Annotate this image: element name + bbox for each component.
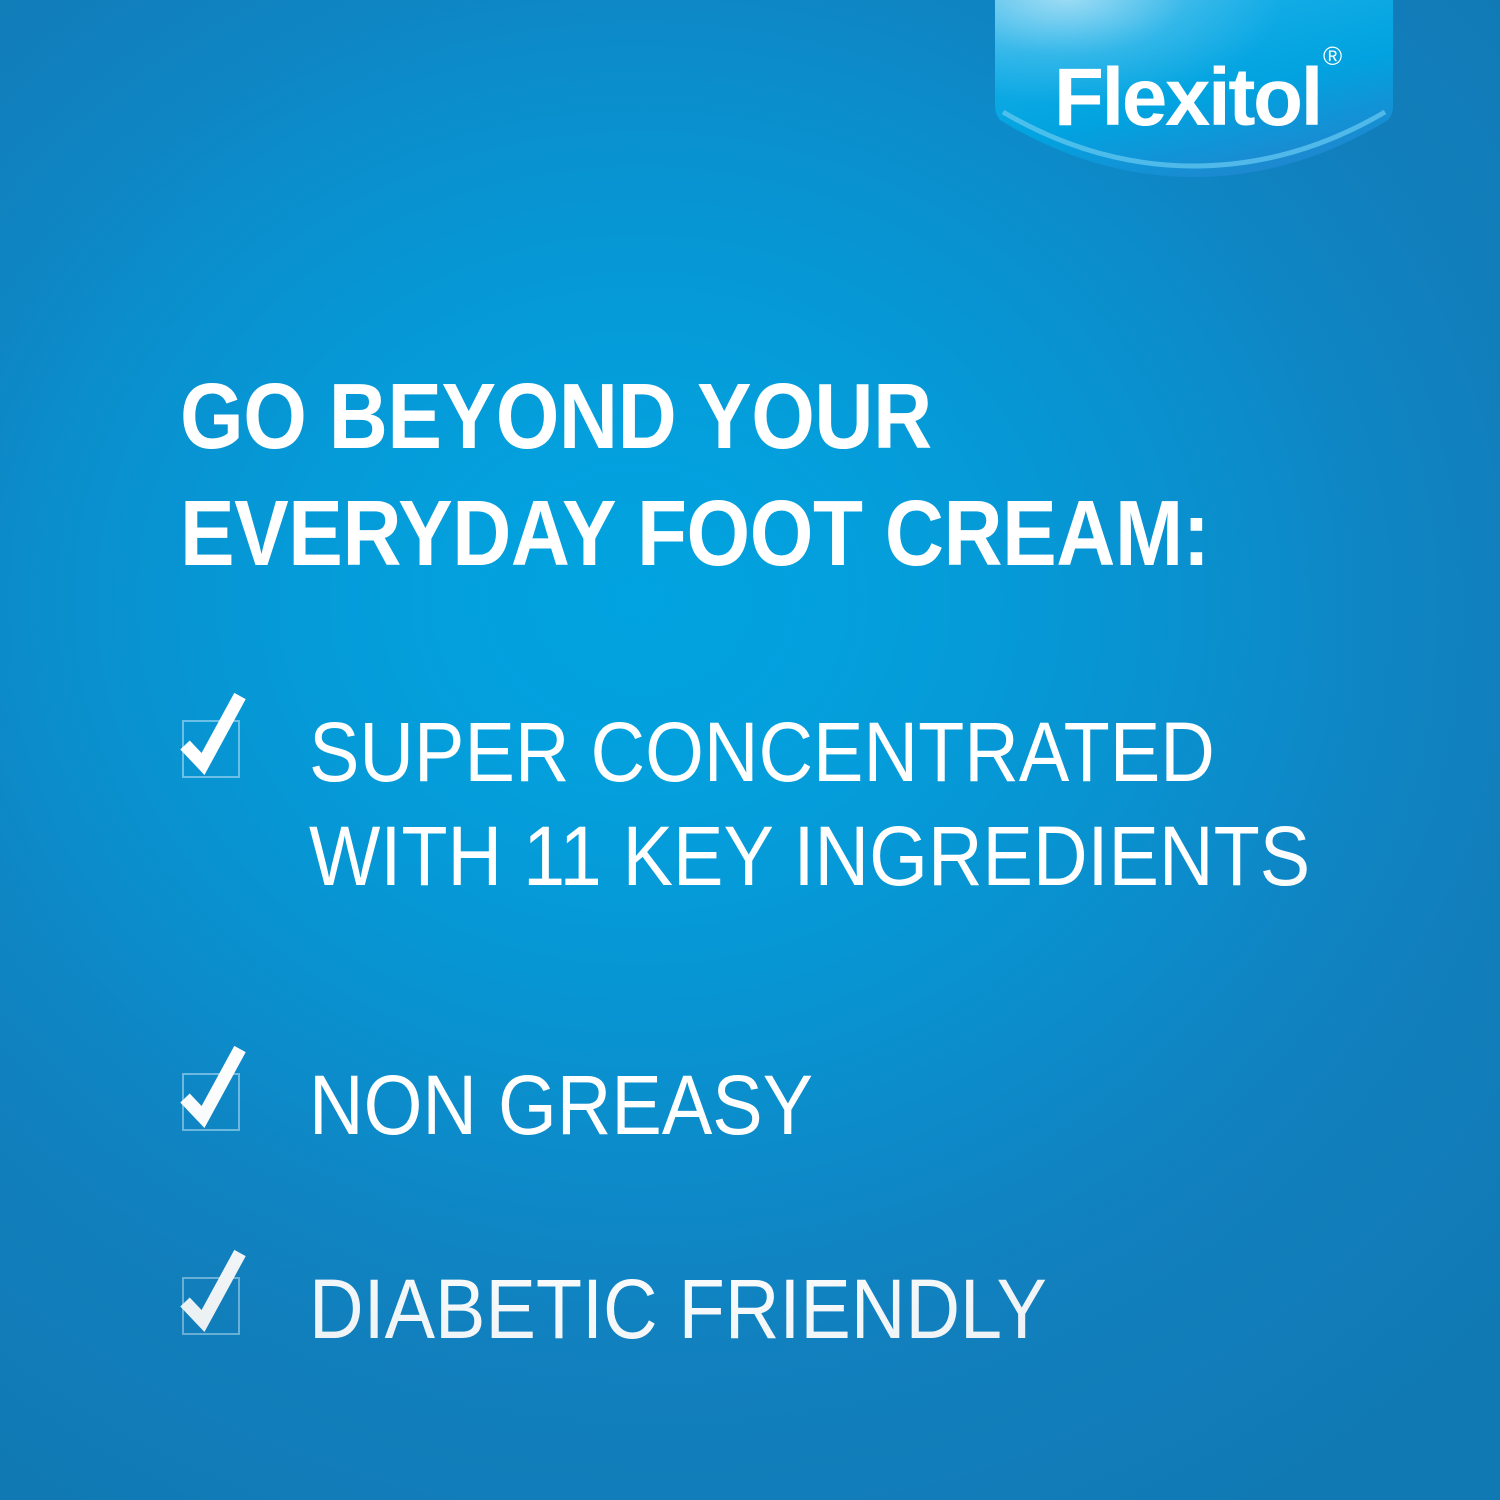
checkbox-checked	[180, 720, 242, 782]
list-item-label: NON GREASY	[309, 1053, 813, 1157]
feature-checklist: SUPER CONCENTRATED WITH 11 KEY INGREDIEN…	[180, 700, 1440, 1361]
list-item: NON GREASY	[180, 1053, 1440, 1157]
list-item-label-line-1: DIABETIC FRIENDLY	[309, 1257, 1047, 1361]
list-item: SUPER CONCENTRATED WITH 11 KEY INGREDIEN…	[180, 700, 1440, 908]
brand-name: Flexitol	[1054, 57, 1321, 139]
list-item-label-line-1: SUPER CONCENTRATED	[309, 700, 1310, 804]
checkbox-checked	[180, 1277, 242, 1339]
list-item-label-line-1: NON GREASY	[309, 1053, 813, 1157]
checkmark-icon	[176, 692, 254, 784]
checkbox-checked	[180, 1073, 242, 1135]
list-item: DIABETIC FRIENDLY	[180, 1257, 1440, 1361]
flexitol-wordmark: Flexitol®	[995, 0, 1393, 140]
page-title: GO BEYOND YOUR EVERYDAY FOOT CREAM:	[180, 358, 1254, 592]
list-item-label-line-2: WITH 11 KEY INGREDIENTS	[309, 804, 1310, 908]
list-item-label: SUPER CONCENTRATED WITH 11 KEY INGREDIEN…	[309, 700, 1310, 908]
list-item-label: DIABETIC FRIENDLY	[309, 1257, 1047, 1361]
page-title-line-1: GO BEYOND YOUR	[180, 358, 1254, 475]
checkmark-icon	[176, 1045, 254, 1137]
flexitol-logo-badge: Flexitol®	[995, 0, 1393, 178]
page-title-line-2: EVERYDAY FOOT CREAM:	[180, 475, 1254, 592]
promotional-banner: Flexitol® GO BEYOND YOUR EVERYDAY FOOT C…	[0, 0, 1500, 1500]
registered-trademark-icon: ®	[1323, 43, 1342, 69]
checkmark-icon	[176, 1249, 254, 1341]
